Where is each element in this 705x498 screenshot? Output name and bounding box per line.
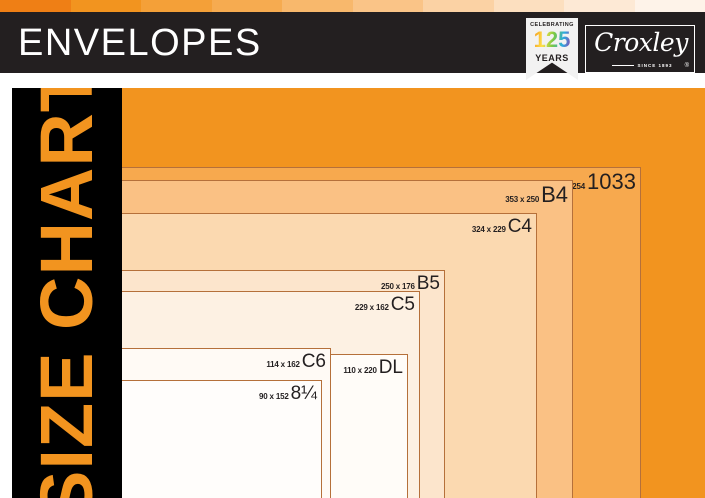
envelope-code-DL: DL (379, 358, 403, 377)
envelope-code-C5: C5 (391, 295, 415, 314)
envelope-dimensions-C4: 324 x 229 (472, 226, 506, 236)
gradient-swatch-5 (353, 0, 424, 12)
gradient-swatch-4 (282, 0, 353, 12)
gradient-swatch-0 (0, 0, 71, 12)
gradient-swatch-2 (141, 0, 212, 12)
envelope-dimensions-DL: 110 x 220 (343, 367, 376, 377)
badge-number: 125 (526, 29, 578, 51)
size-chart-panel: SIZE CHART (12, 88, 122, 498)
since-text: SINCE 1893 (637, 63, 672, 68)
envelope-label-8¼: 90 x 1528¼ (259, 384, 317, 403)
gradient-swatch-6 (423, 0, 494, 12)
envelope-dimensions-B4: 353 x 250 (505, 196, 539, 206)
envelope-code-B4: B4 (541, 184, 568, 206)
page-header: ENVELOPES CELEBRATING 125 YEARS Croxley … (0, 12, 705, 73)
croxley-logo: Croxley SINCE 1893 ® (585, 25, 695, 73)
croxley-wordmark: Croxley (586, 28, 696, 58)
envelope-label-C6: 114 x 162C6 (266, 352, 326, 371)
envelope-code-1033: 1033 (587, 171, 636, 193)
since-rule-left (612, 65, 634, 66)
left-gutter (0, 88, 12, 498)
envelope-code-8¼: 8¼ (291, 384, 317, 403)
gradient-bar (0, 0, 705, 12)
envelope-label-C4: 324 x 229C4 (472, 217, 532, 236)
gradient-swatch-3 (212, 0, 283, 12)
envelope-label-C5: 229 x 162C5 (355, 295, 415, 314)
envelope-dimensions-8¼: 90 x 152 (259, 393, 289, 403)
envelope-dimensions-C5: 229 x 162 (355, 304, 389, 314)
envelope-code-C6: C6 (302, 352, 326, 371)
gradient-swatch-1 (71, 0, 142, 12)
envelope-label-B4: 353 x 250B4 (505, 184, 568, 206)
badge-years-label: YEARS (526, 53, 578, 63)
envelope-code-C4: C4 (508, 217, 532, 236)
envelope-dimensions-C6: 114 x 162 (266, 361, 299, 371)
registered-trademark-icon: ® (685, 63, 689, 69)
envelope-label-DL: 110 x 220DL (343, 358, 403, 377)
size-chart-title: SIZE CHART (30, 88, 104, 498)
anniversary-badge-icon: CELEBRATING 125 YEARS (526, 18, 578, 80)
gradient-swatch-9 (635, 0, 705, 12)
croxley-since-label: SINCE 1893 (586, 63, 696, 68)
gradient-swatch-7 (494, 0, 565, 12)
page-title: ENVELOPES (18, 20, 262, 66)
envelope-size-chart-page: ENVELOPES CELEBRATING 125 YEARS Croxley … (0, 0, 705, 498)
envelope-code-B5: B5 (417, 274, 440, 293)
gradient-swatch-8 (564, 0, 635, 12)
